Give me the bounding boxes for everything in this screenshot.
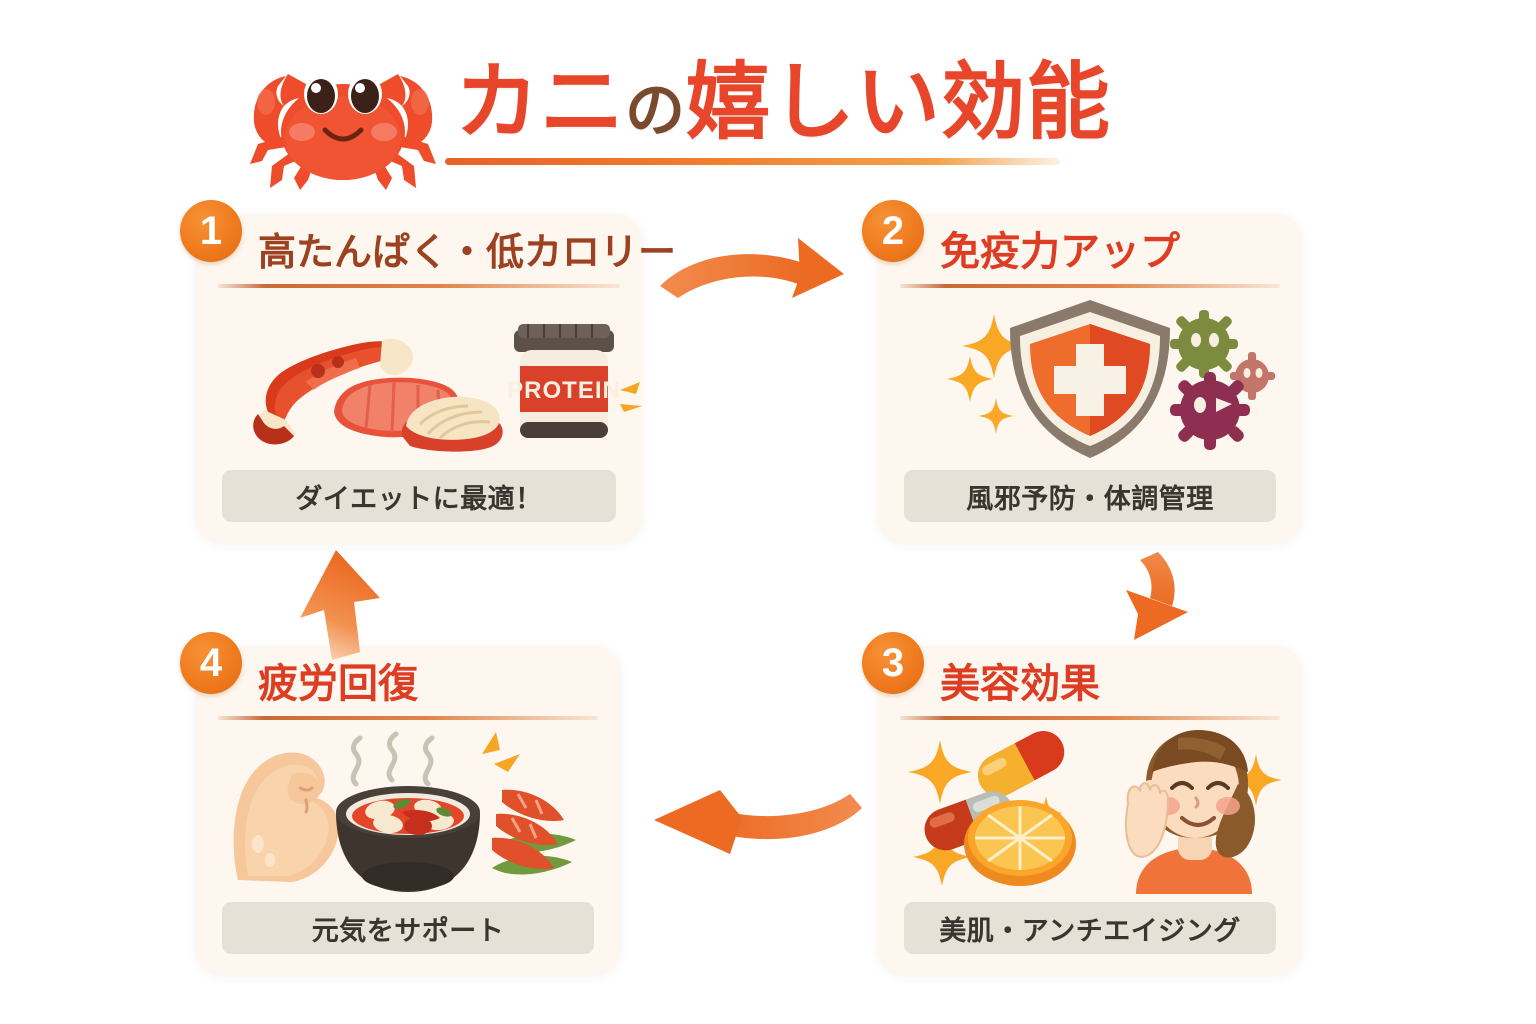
capsule-icon-yellow xyxy=(971,726,1072,804)
flexed-biceps-icon xyxy=(234,752,339,882)
card-beauty[interactable]: 3 美容効果 xyxy=(878,646,1302,974)
card-title-rule xyxy=(218,284,620,288)
card-title: 免疫力アップ xyxy=(940,220,1292,276)
hot-pot-icon xyxy=(336,786,480,892)
muscle-arm-hotpot-icon xyxy=(196,726,620,894)
page-title-part2: 嬉しい効能 xyxy=(686,55,1111,149)
crab-mascot-icon xyxy=(228,40,458,190)
arrow-card2-to-card3 xyxy=(1092,540,1222,656)
card-title: 美容効果 xyxy=(940,652,1292,708)
arrow-card3-to-card4 xyxy=(624,776,890,878)
title-underline xyxy=(445,158,1060,165)
card-number-badge: 1 xyxy=(180,200,242,262)
card-caption: 風邪予防・体調管理 xyxy=(904,470,1276,522)
card-title-rule xyxy=(218,716,598,720)
header: カニの嬉しい効能 xyxy=(0,18,1536,188)
germ-icon-purple xyxy=(1170,372,1250,450)
shield-cross-germs-icon xyxy=(878,294,1302,462)
woman-face-icon xyxy=(1126,730,1255,894)
arrow-card4-to-card1 xyxy=(288,540,412,666)
card-fatigue-recovery[interactable]: 4 疲労回復 xyxy=(196,646,620,974)
infographic-root: カニの嬉しい効能 1 高たんぱく・低カロリー xyxy=(0,0,1536,1024)
steam-icon xyxy=(353,734,432,784)
crab-leg-protein-jar-icon: PROTEIN xyxy=(196,294,642,462)
page-title: カニの嬉しい効能 xyxy=(455,52,1111,161)
card-high-protein[interactable]: 1 高たんぱく・低カロリー xyxy=(196,214,642,542)
card-caption: 美肌・アンチエイジング xyxy=(904,902,1276,954)
shield-icon xyxy=(1010,300,1170,458)
arrow-card1-to-card2 xyxy=(648,228,888,320)
page-title-part1: カニ xyxy=(455,55,625,149)
card-title: 高たんぱく・低カロリー xyxy=(258,220,632,276)
card-caption: 元気をサポート xyxy=(222,902,594,954)
card-immunity[interactable]: 2 免疫力アップ xyxy=(878,214,1302,542)
card-number-badge: 4 xyxy=(180,632,242,694)
page-title-no: の xyxy=(625,77,686,144)
protein-jar-label: PROTEIN xyxy=(507,377,621,404)
germ-icon-green xyxy=(1170,310,1238,378)
pills-orange-woman-icon xyxy=(878,726,1302,894)
shrimp-garnish-icon xyxy=(492,790,576,875)
card-caption: ダイエットに最適！ xyxy=(222,470,616,522)
card-title-rule xyxy=(900,284,1280,288)
card-title-rule xyxy=(900,716,1280,720)
spark-icon xyxy=(482,732,520,772)
card-number-badge: 3 xyxy=(862,632,924,694)
